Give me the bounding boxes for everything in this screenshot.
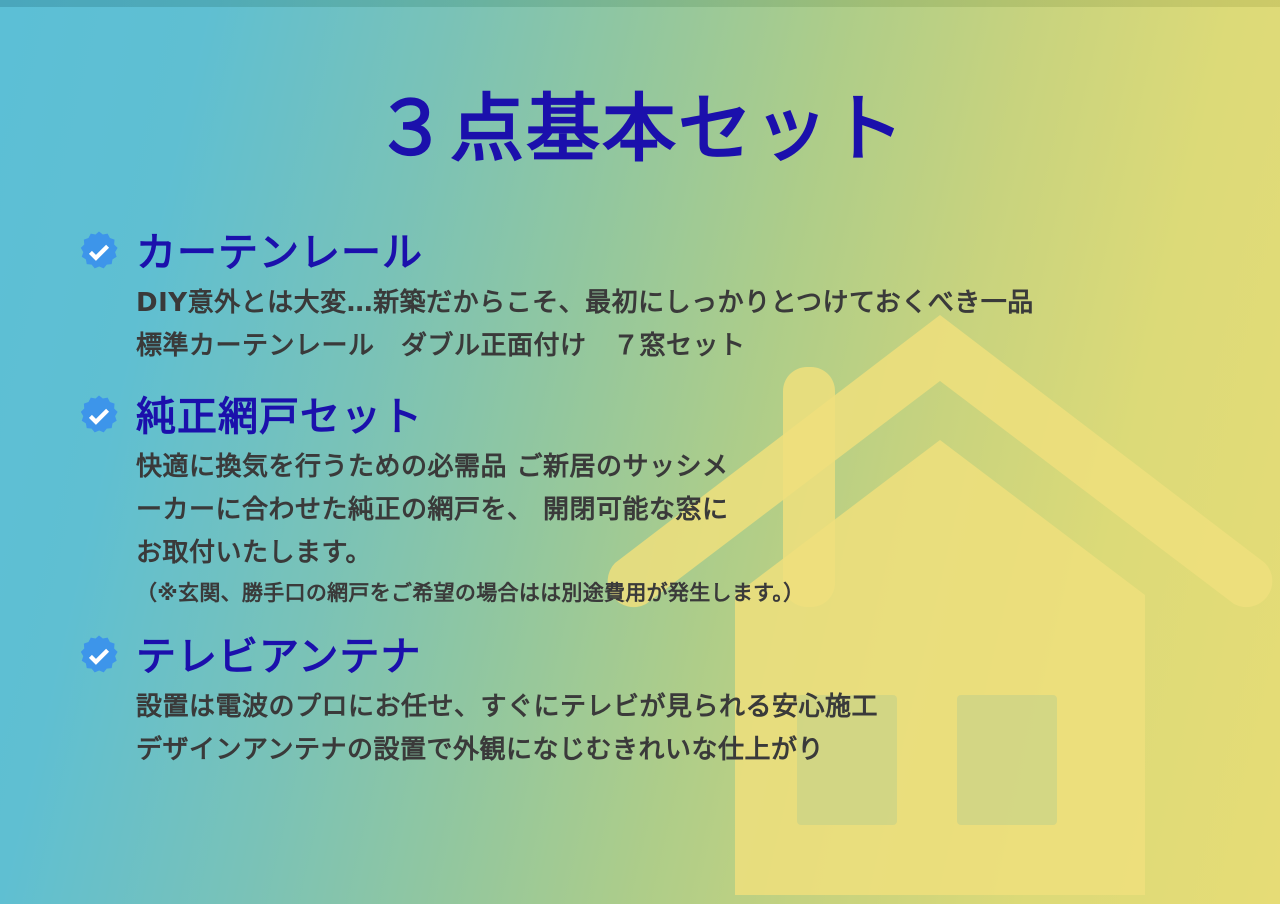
- check-badge-icon: [76, 394, 122, 440]
- feature-line: お取付いたします。: [136, 532, 1236, 575]
- feature-body: 快適に換気を行うための必需品 ご新居のサッシメ ーカーに合わせた純正の網戸を、 …: [136, 446, 1236, 611]
- feature-heading: 純正網戸セット: [76, 392, 1236, 442]
- feature-section-curtain-rail: カーテンレール DIY意外とは大変…新築だからこそ、最初にしっかりとつけておくべ…: [76, 228, 1236, 368]
- feature-line: 標準カーテンレール ダブル正面付け ７窓セット: [136, 325, 1236, 368]
- feature-title: カーテンレール: [136, 233, 423, 273]
- promotional-poster: ３点基本セット カーテンレール DIY意外とは大変…新築だからこそ、最初にしっか…: [0, 0, 1280, 904]
- page-title: ３点基本セット: [0, 92, 1280, 166]
- feature-line: デザインアンテナの設置で外観になじむきれいな仕上がり: [136, 729, 1236, 772]
- feature-heading: テレビアンテナ: [76, 632, 1236, 682]
- feature-line: 設置は電波のプロにお任せ、すぐにテレビが見られる安心施工: [136, 686, 1236, 729]
- check-badge-icon: [76, 634, 122, 680]
- feature-title: テレビアンテナ: [136, 637, 421, 677]
- feature-body: DIY意外とは大変…新築だからこそ、最初にしっかりとつけておくべき一品 標準カー…: [136, 282, 1236, 368]
- feature-heading: カーテンレール: [76, 228, 1236, 278]
- feature-line: 快適に換気を行うための必需品 ご新居のサッシメ: [136, 446, 1236, 489]
- feature-note: （※玄関、勝手口の網戸をご希望の場合はは別途費用が発生します。）: [136, 575, 1236, 611]
- check-badge-icon: [76, 230, 122, 276]
- feature-section-tv-antenna: テレビアンテナ 設置は電波のプロにお任せ、すぐにテレビが見られる安心施工 デザイ…: [76, 632, 1236, 772]
- feature-section-screen-door: 純正網戸セット 快適に換気を行うための必需品 ご新居のサッシメ ーカーに合わせた…: [76, 392, 1236, 611]
- poster-content: ３点基本セット カーテンレール DIY意外とは大変…新築だからこそ、最初にしっか…: [0, 0, 1280, 904]
- feature-body: 設置は電波のプロにお任せ、すぐにテレビが見られる安心施工 デザインアンテナの設置…: [136, 686, 1236, 772]
- feature-title: 純正網戸セット: [136, 397, 423, 437]
- feature-line: DIY意外とは大変…新築だからこそ、最初にしっかりとつけておくべき一品: [136, 282, 1236, 325]
- feature-line: ーカーに合わせた純正の網戸を、 開閉可能な窓に: [136, 489, 1236, 532]
